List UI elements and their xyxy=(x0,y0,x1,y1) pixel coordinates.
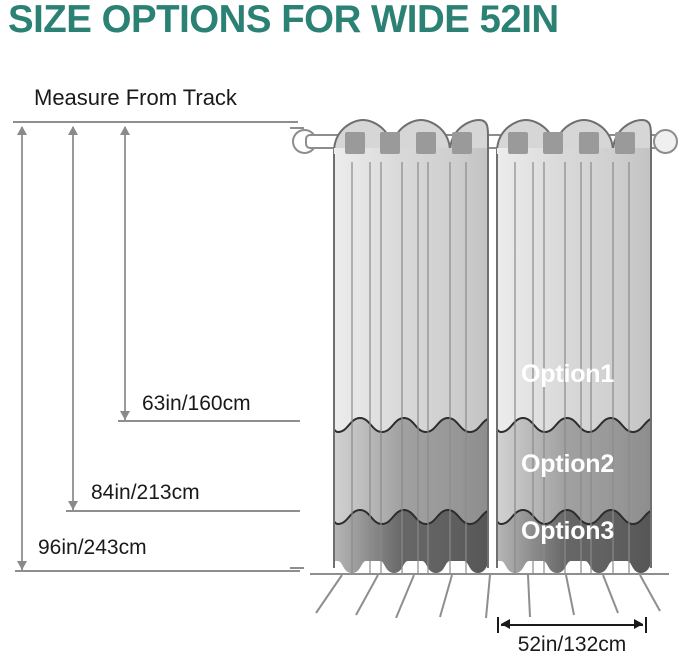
dimension-line-option2 xyxy=(72,127,74,511)
dimension-line-option1 xyxy=(124,127,126,421)
dimension-baseline-option1 xyxy=(118,420,300,422)
width-label: 52in/132cm xyxy=(497,633,647,657)
width-arrow-right xyxy=(634,619,643,629)
dimension-line-option3 xyxy=(21,127,23,571)
dimension-arrow-down-option2 xyxy=(68,501,78,510)
track-reference-line xyxy=(13,121,298,123)
curtain-panel-right xyxy=(493,118,655,573)
dimension-baseline-option3 xyxy=(15,570,300,572)
dimension-label-option3: 96in/243cm xyxy=(38,536,147,560)
page-title: SIZE OPTIONS FOR WIDE 52IN xyxy=(8,0,668,43)
dimension-arrow-up-option3 xyxy=(17,126,27,135)
dimension-arrow-up-option2 xyxy=(68,126,78,135)
option2-label: Option2 xyxy=(521,450,614,478)
dimension-label-option1: 63in/160cm xyxy=(142,392,251,416)
measure-from-track-caption: Measure From Track xyxy=(34,85,237,111)
dimension-arrow-down-option1 xyxy=(120,411,130,420)
rod-finial-right xyxy=(653,129,678,154)
width-tick-right xyxy=(645,617,647,633)
dimension-baseline-option2 xyxy=(66,510,300,512)
curtain-panel-left xyxy=(330,118,492,573)
floor-hatching xyxy=(300,573,679,618)
width-tick-left xyxy=(497,617,499,633)
dimension-arrow-down-option3 xyxy=(17,561,27,570)
track-left-tick xyxy=(290,127,304,129)
width-bar xyxy=(501,624,643,626)
option3-label: Option3 xyxy=(521,517,614,545)
option1-label: Option1 xyxy=(521,360,614,388)
size-options-diagram: SIZE OPTIONS FOR WIDE 52IN Measure From … xyxy=(0,0,679,660)
dimension-arrow-up-option1 xyxy=(120,126,130,135)
width-arrow-left xyxy=(501,619,510,629)
width-dimension xyxy=(497,617,647,633)
floor-left-tick xyxy=(290,567,304,569)
dimension-label-option2: 84in/213cm xyxy=(91,481,200,505)
